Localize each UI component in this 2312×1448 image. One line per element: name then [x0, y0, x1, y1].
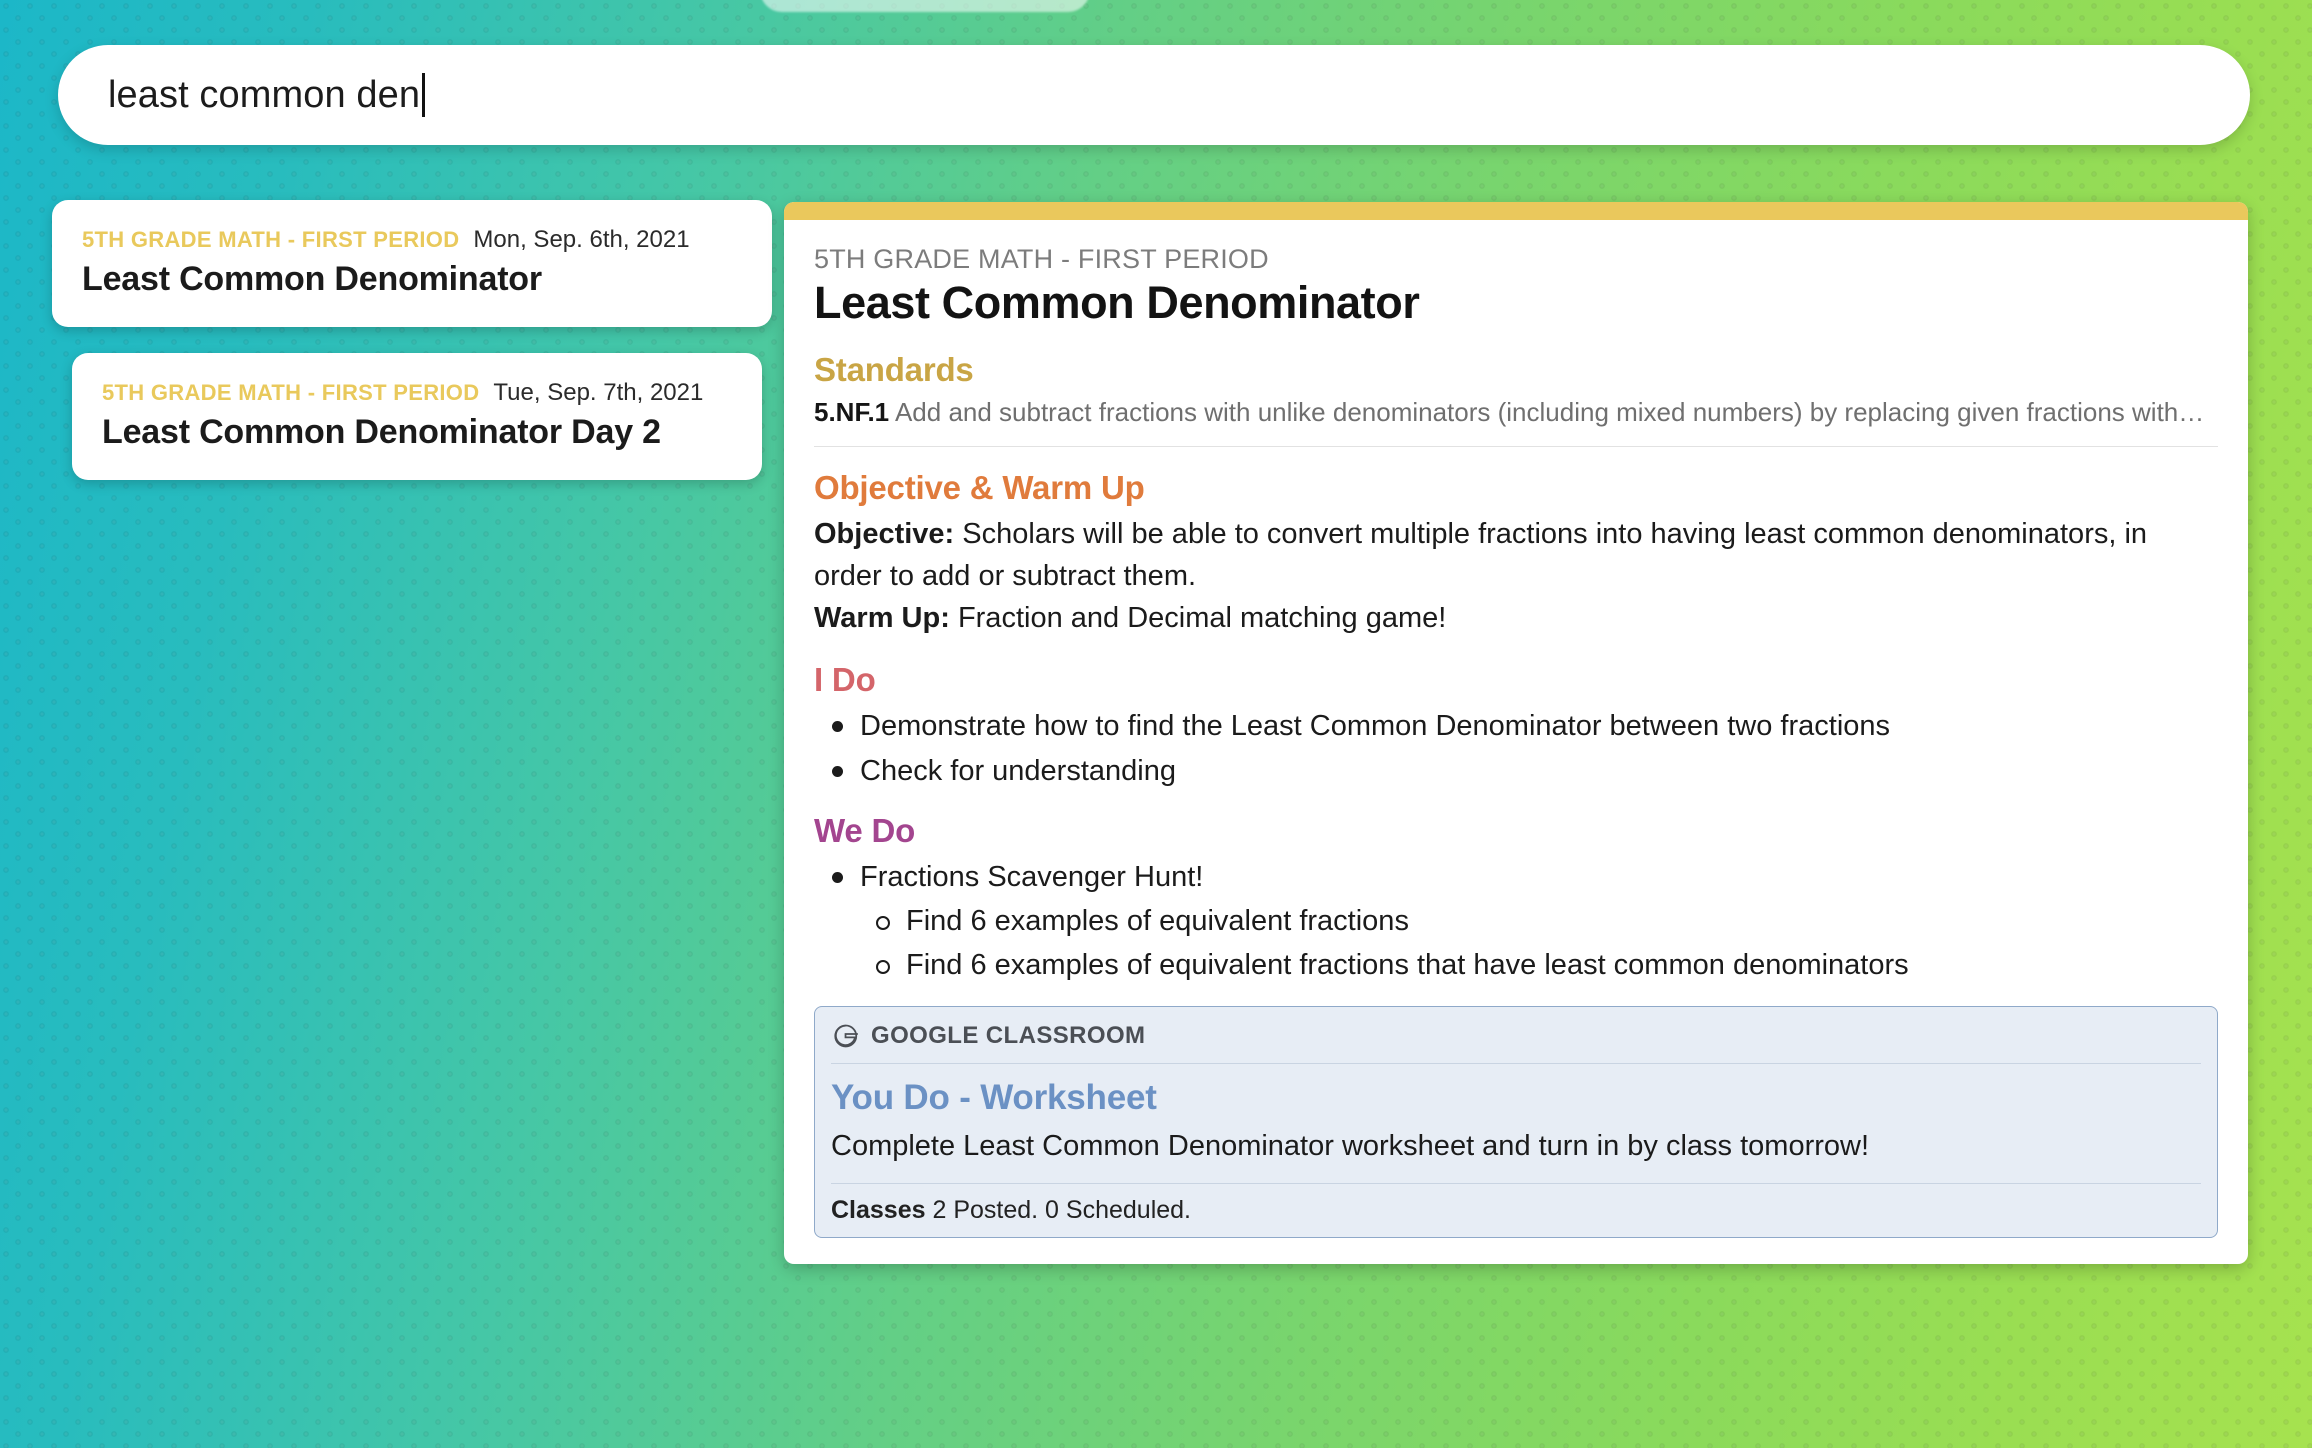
classes-status-text: 2 Posted. 0 Scheduled.: [932, 1196, 1191, 1224]
detail-accent-bar: [784, 202, 2248, 220]
warmup-line: Warm Up: Fraction and Decimal matching g…: [814, 597, 2218, 639]
list-item: Find 6 examples of equivalent fractions …: [860, 944, 2218, 986]
search-bar[interactable]: least common den: [58, 45, 2250, 145]
section-heading-i-do: I Do: [814, 661, 2218, 699]
objective-text: Scholars will be able to convert multipl…: [814, 518, 2147, 592]
classes-label: Classes: [831, 1196, 926, 1224]
google-classroom-header: GOOGLE CLASSROOM: [831, 1021, 2201, 1064]
standards-text: 5.NF.1 Add and subtract fractions with u…: [814, 395, 2218, 447]
assignment-status: Classes 2 Posted. 0 Scheduled.: [831, 1184, 2201, 1225]
text-caret: [422, 73, 425, 117]
list-item: Check for understanding: [814, 750, 2218, 792]
we-do-item-label: Fractions Scavenger Hunt!: [860, 861, 1203, 893]
section-heading-objective: Objective & Warm Up: [814, 469, 2218, 507]
assignment-title[interactable]: You Do - Worksheet: [831, 1078, 2201, 1118]
top-partial-panel: [760, 0, 1090, 12]
result-date: Tue, Sep. 7th, 2021: [493, 379, 703, 407]
google-classroom-label: GOOGLE CLASSROOM: [871, 1022, 1145, 1050]
search-results-list: 5TH GRADE MATH - FIRST PERIOD Mon, Sep. …: [52, 200, 772, 506]
standards-description: Add and subtract fractions with unlike d…: [895, 397, 2204, 427]
result-meta: 5TH GRADE MATH - FIRST PERIOD Mon, Sep. …: [82, 226, 742, 254]
assignment-description: Complete Least Common Denominator worksh…: [831, 1126, 2201, 1184]
warmup-label: Warm Up:: [814, 602, 950, 634]
result-title: Least Common Denominator: [82, 260, 742, 299]
search-input[interactable]: least common den: [108, 73, 425, 117]
standards-code: 5.NF.1: [814, 397, 889, 427]
objective-line: Objective: Scholars will be able to conv…: [814, 513, 2218, 597]
result-course-label: 5TH GRADE MATH - FIRST PERIOD: [102, 380, 479, 406]
google-classroom-card[interactable]: GOOGLE CLASSROOM You Do - Worksheet Comp…: [814, 1006, 2218, 1238]
google-g-icon: [831, 1021, 861, 1051]
list-item[interactable]: 5TH GRADE MATH - FIRST PERIOD Mon, Sep. …: [52, 200, 772, 327]
we-do-sublist: Find 6 examples of equivalent fractions …: [860, 900, 2218, 986]
section-heading-standards: Standards: [814, 351, 2218, 389]
section-heading-we-do: We Do: [814, 812, 2218, 850]
list-item: Demonstrate how to find the Least Common…: [814, 705, 2218, 747]
warmup-text: Fraction and Decimal matching game!: [958, 602, 1446, 634]
list-item: Fractions Scavenger Hunt! Find 6 example…: [814, 856, 2218, 986]
objective-block: Objective: Scholars will be able to conv…: [814, 513, 2218, 639]
result-course-label: 5TH GRADE MATH - FIRST PERIOD: [82, 227, 459, 253]
i-do-list: Demonstrate how to find the Least Common…: [814, 705, 2218, 792]
lesson-detail-panel: 5TH GRADE MATH - FIRST PERIOD Least Comm…: [784, 202, 2248, 1264]
objective-label: Objective:: [814, 518, 954, 550]
result-title: Least Common Denominator Day 2: [102, 413, 732, 452]
list-item[interactable]: 5TH GRADE MATH - FIRST PERIOD Tue, Sep. …: [72, 353, 762, 480]
we-do-list: Fractions Scavenger Hunt! Find 6 example…: [814, 856, 2218, 986]
list-item: Find 6 examples of equivalent fractions: [860, 900, 2218, 942]
result-meta: 5TH GRADE MATH - FIRST PERIOD Tue, Sep. …: [102, 379, 732, 407]
page-title: Least Common Denominator: [814, 277, 2218, 329]
result-date: Mon, Sep. 6th, 2021: [473, 226, 689, 254]
detail-course-label: 5TH GRADE MATH - FIRST PERIOD: [814, 244, 2218, 275]
search-input-value: least common den: [108, 74, 420, 117]
